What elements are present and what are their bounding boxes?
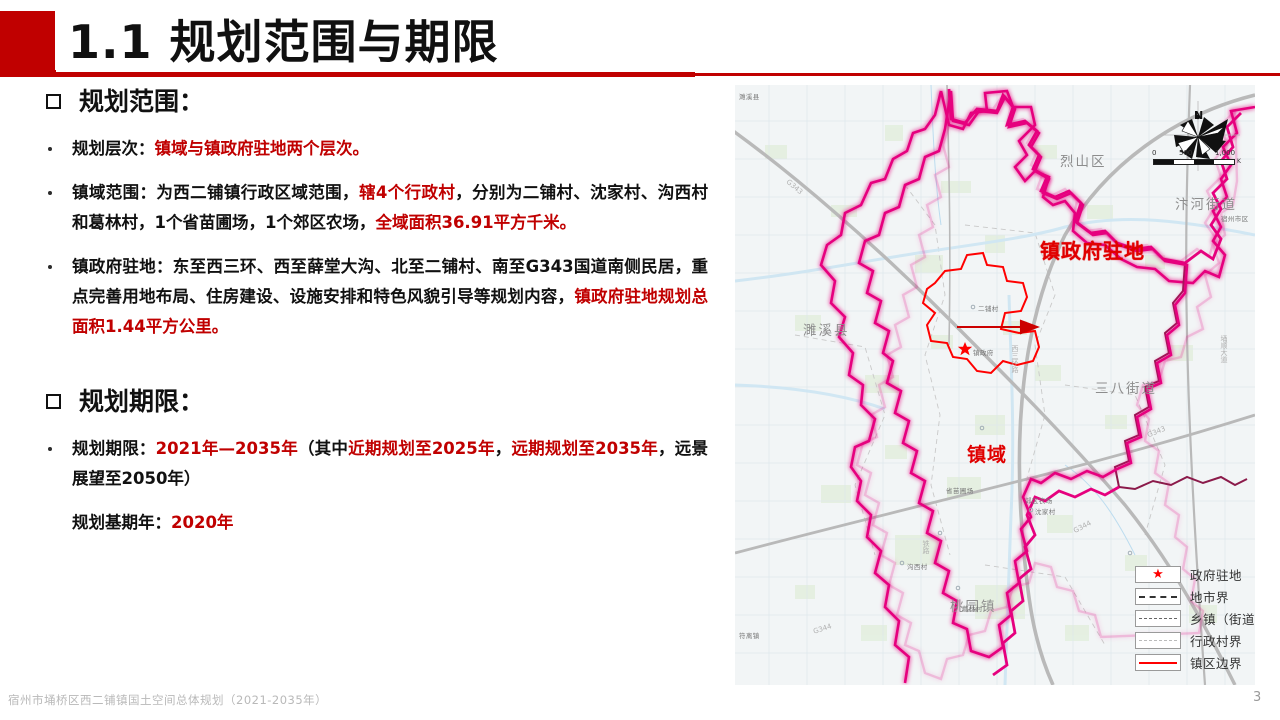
scale-bar-graphic (1153, 159, 1235, 165)
header-accent-block (0, 11, 55, 73)
bullet-item: 规划层次：镇域与镇政府驻地两个层次。 (44, 134, 708, 164)
legend-label: 地市界 (1190, 587, 1229, 606)
north-arrow-label: N (1194, 109, 1203, 122)
section-gap (0, 356, 720, 382)
map-legend: ★政府驻地地市界乡镇（街道）界行政村界镇区边界 (1135, 565, 1255, 672)
location-map[interactable]: 镇政府驻地 镇域 烈山区 汴河街道 濉溪县 三八街道 桃园镇 二铺村 镇政府 沈… (735, 85, 1255, 685)
content-column: 规划范围：规划层次：镇域与镇政府驻地两个层次。镇域范围：为西二铺镇行政区域范围，… (0, 82, 720, 672)
line-swatch-icon (1139, 640, 1177, 641)
line-swatch-icon (1139, 618, 1177, 619)
highlighted-text: 镇域与镇政府驻地两个层次。 (155, 139, 370, 158)
bullet-item: 镇政府驻地：东至西三环、西至薛堂大沟、北至二铺村、南至G343国道南侧民居，重点… (44, 252, 708, 342)
header-rule-thick (55, 72, 695, 77)
footer-caption: 宿州市埇桥区西二铺镇国土空间总体规划（2021-2035年） (8, 692, 327, 708)
section-heading-label: 规划期限： (79, 382, 204, 418)
highlighted-text: 2021年—2035年 (156, 439, 298, 458)
legend-row: 地市界 (1135, 587, 1255, 606)
section-heading-label: 规划范围： (79, 82, 204, 118)
legend-label: 镇区边界 (1190, 653, 1242, 672)
section-heading-1: 规划期限： (46, 382, 720, 418)
section-heading-0: 规划范围： (46, 82, 720, 118)
body-text: （其中 (298, 439, 348, 458)
bullet-item: 规划基期年：2020年 (44, 508, 708, 538)
scale-tick-1000: 1,000 (1215, 149, 1235, 157)
body-text: 规划基期年： (72, 513, 171, 532)
header-rule-cap (0, 70, 56, 77)
legend-row: 乡镇（街道）界 (1135, 609, 1255, 628)
line-swatch-icon (1139, 596, 1177, 598)
legend-row: 行政村界 (1135, 631, 1255, 650)
legend-label: 行政村界 (1190, 631, 1242, 650)
scale-tick-0: 0 (1152, 149, 1156, 157)
body-text: 镇域范围：为西二铺镇行政区域范围， (72, 183, 359, 202)
legend-symbol-star: ★ (1135, 566, 1181, 583)
legend-symbol-dash-light (1135, 632, 1181, 649)
line-swatch-icon (1139, 662, 1177, 664)
square-bullet-icon (46, 394, 61, 409)
highlighted-text: 远期规划至2035年 (511, 439, 658, 458)
scale-unit: K (1237, 158, 1241, 165)
body-text: 规划层次： (72, 139, 155, 158)
highlighted-text: 全域面积36.91平方千米。 (375, 213, 576, 232)
scale-tick-500: 500 (1179, 149, 1192, 157)
highlighted-text: 2020年 (171, 513, 233, 532)
map-scale-bar: 0 500 1,000 K (1153, 149, 1245, 165)
legend-label: 乡镇（街道）界 (1190, 609, 1255, 628)
legend-symbol-solid-red (1135, 654, 1181, 671)
page-number: 3 (1253, 690, 1261, 705)
highlighted-text: 辖4个行政村 (359, 183, 455, 202)
star-icon: ★ (1152, 568, 1164, 581)
page-title: 1.1 规划范围与期限 (68, 6, 499, 72)
legend-label: 政府驻地 (1190, 565, 1242, 584)
highlighted-text: 近期规划至2025年 (348, 439, 495, 458)
legend-symbol-dash-heavy (1135, 588, 1181, 605)
body-text: ， (495, 439, 512, 458)
body-text: 规划期限： (72, 439, 156, 458)
legend-symbol-dash-medium (1135, 610, 1181, 627)
square-bullet-icon (46, 94, 61, 109)
legend-row: 镇区边界 (1135, 653, 1255, 672)
legend-row: ★政府驻地 (1135, 565, 1255, 584)
bullet-item: 规划期限：2021年—2035年（其中近期规划至2025年，远期规划至2035年… (44, 434, 708, 494)
slide-header: 1.1 规划范围与期限 (0, 0, 1280, 80)
bullet-item: 镇域范围：为西二铺镇行政区域范围，辖4个行政村，分别为二铺村、沈家村、沟西村和葛… (44, 178, 708, 238)
